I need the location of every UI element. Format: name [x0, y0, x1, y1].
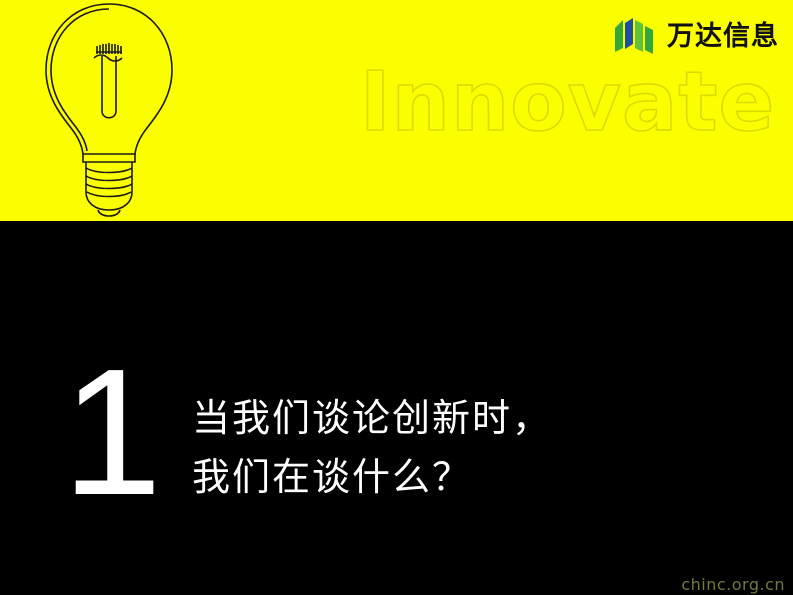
headline-line-2: 我们在谈什么？ — [192, 448, 552, 507]
brand-name: 万达信息 — [667, 23, 779, 50]
light-bulb-icon — [34, 0, 184, 226]
section-number: 1 — [62, 359, 160, 507]
wanda-bars-logo-icon — [613, 18, 657, 54]
innovate-wordmark: Innovate — [360, 58, 793, 148]
slide-body: 1 当我们谈论创新时， 我们在谈什么？ — [0, 221, 793, 595]
page-title: 当我们谈论创新时， 我们在谈什么？ — [192, 389, 552, 507]
yellow-banner: 万达信息 Innovate — [0, 0, 793, 221]
innovate-wordmark-text: Innovate — [360, 58, 775, 148]
footer-watermark: chinc.org.cn — [681, 575, 785, 594]
headline-line-1: 当我们谈论创新时， — [192, 389, 552, 448]
slide-canvas: 万达信息 Innovate 1 当我们谈论创新时， 我们在谈什么？ chinc.… — [0, 0, 793, 595]
brand-logo: 万达信息 — [613, 18, 779, 54]
